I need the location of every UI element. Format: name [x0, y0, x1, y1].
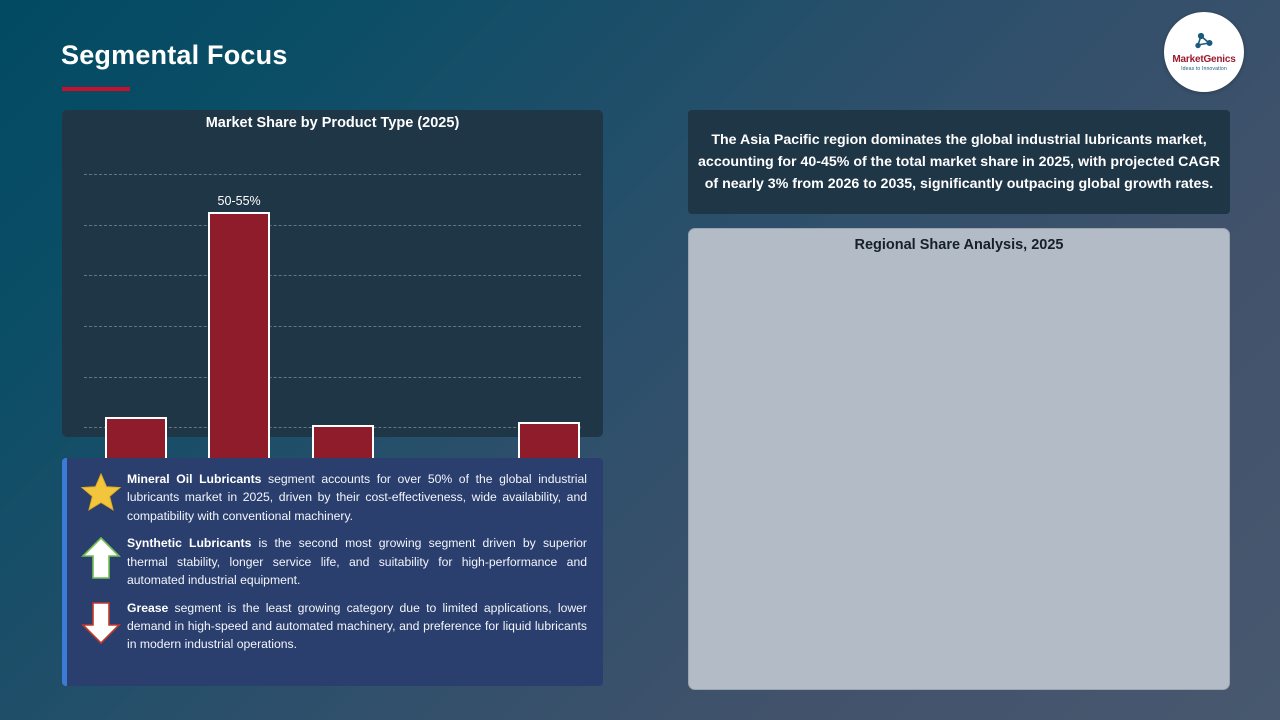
regional-chart-title: Regional Share Analysis, 2025 — [689, 229, 1229, 253]
regional-category-label: ASEAN Countries — [689, 410, 1280, 424]
arrow-up-icon — [81, 536, 121, 580]
insight-lead: Synthetic Lubricants — [127, 536, 251, 550]
bar-value-label: 50-55% — [218, 194, 261, 208]
insight-text: Mineral Oil Lubricants segment accounts … — [127, 470, 591, 525]
star-icon — [75, 470, 127, 512]
insight-text: Synthetic Lubricants is the second most … — [127, 534, 591, 589]
logo-name: MarketGenics — [1172, 55, 1235, 65]
insight-item: Grease segment is the least growing cate… — [75, 599, 591, 654]
arrow-down-icon — [81, 601, 121, 645]
callout-box: The Asia Pacific region dominates the gl… — [688, 110, 1230, 214]
insight-lead: Mineral Oil Lubricants — [127, 472, 261, 486]
regional-category-label: Japan — [689, 313, 1280, 327]
vertical-bar-plot: 50-55% Synthetic LubricantsMineral Oil L… — [72, 146, 593, 437]
product-type-chart-card: Market Share by Product Type (2025) 50-5… — [62, 110, 603, 437]
horizontal-bar-plot: China60-65%JapanSouth KoreaIndiaASEAN Co… — [689, 267, 1231, 467]
star-icon — [80, 472, 122, 512]
regional-category-label: Rest of Asia — [689, 443, 1280, 457]
insight-lead: Grease — [127, 601, 168, 615]
insight-item: Mineral Oil Lubricants segment accounts … — [75, 470, 591, 525]
callout-text: The Asia Pacific region dominates the gl… — [696, 129, 1222, 195]
bar-column[interactable]: 50-55% — [208, 194, 270, 478]
page-title: Segmental Focus — [61, 40, 288, 71]
chart-title: Market Share by Product Type (2025) — [62, 110, 603, 131]
arrow-up-icon — [75, 534, 127, 580]
title-underline — [62, 87, 130, 91]
logo-tagline: Ideas to Innovation — [1181, 66, 1227, 72]
bars-area: 50-55% — [84, 146, 581, 478]
brand-logo: MarketGenics Ideas to Innovation — [1164, 12, 1244, 92]
insight-item: Synthetic Lubricants is the second most … — [75, 534, 591, 589]
regional-category-label: China — [689, 280, 1280, 294]
regional-category-label: India — [689, 378, 1280, 392]
bar[interactable] — [208, 212, 270, 478]
regional-category-label: South Korea — [689, 345, 1280, 359]
molecule-network-icon — [1192, 32, 1216, 54]
insight-text: Grease segment is the least growing cate… — [127, 599, 591, 654]
arrow-down-icon — [75, 599, 127, 645]
regional-analysis-panel: Regional Share Analysis, 2025 China60-65… — [688, 228, 1230, 690]
insights-card: Mineral Oil Lubricants segment accounts … — [62, 458, 603, 686]
